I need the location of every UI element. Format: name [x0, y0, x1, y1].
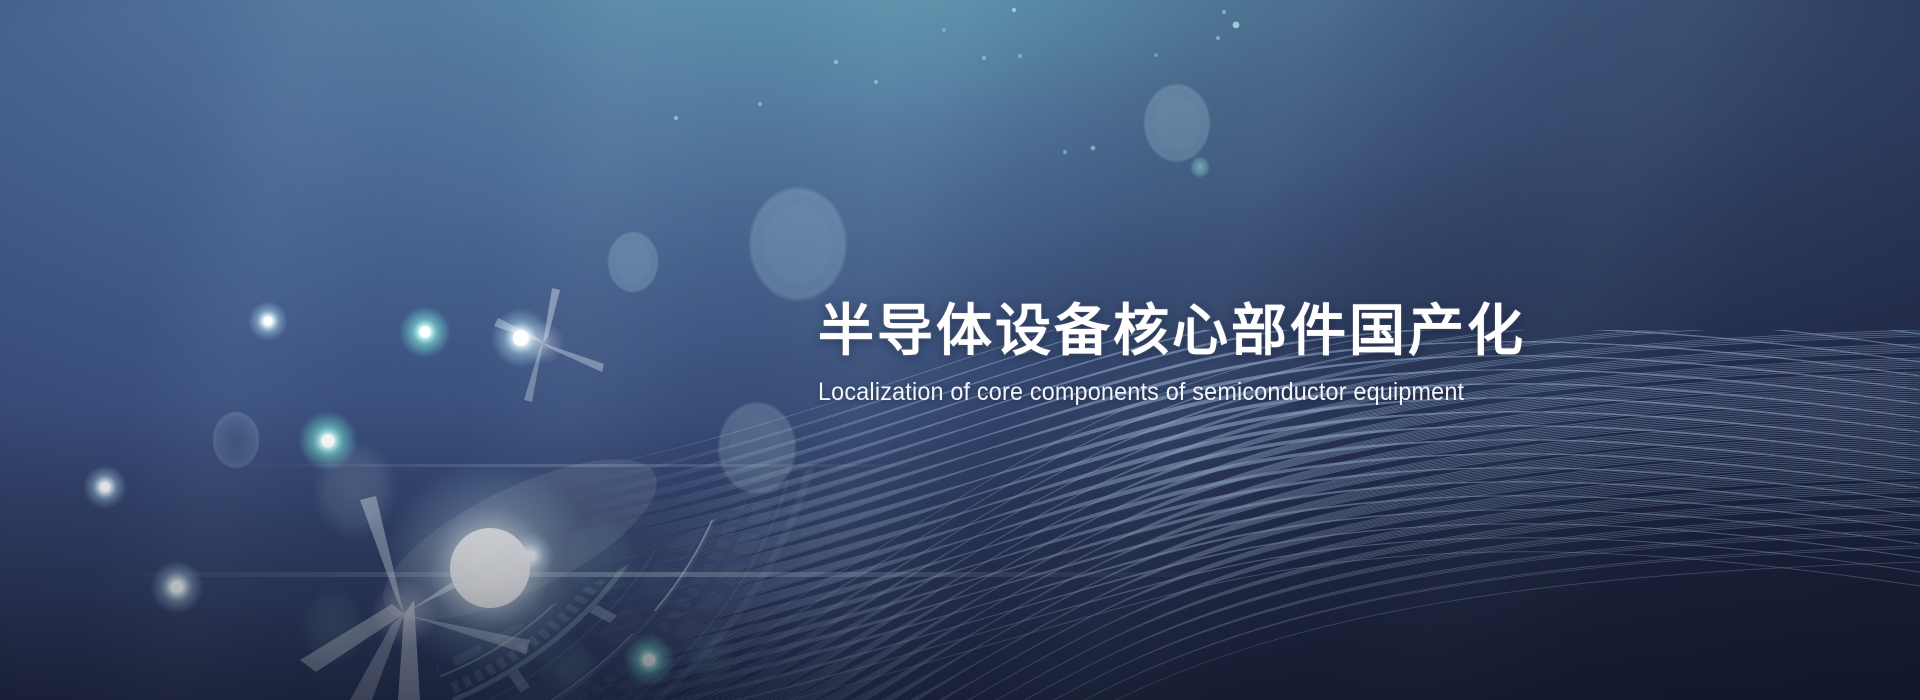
page-title: 半导体设备核心部件国产化: [818, 300, 1578, 363]
hero-banner: 半导体设备核心部件国产化 Localization of core compon…: [0, 0, 1920, 700]
banner-text-block: 半导体设备核心部件国产化 Localization of core compon…: [818, 300, 1578, 407]
spark-burst: [494, 288, 604, 402]
page-subtitle: Localization of core components of semic…: [818, 377, 1529, 407]
flare-streak: [110, 572, 1220, 577]
